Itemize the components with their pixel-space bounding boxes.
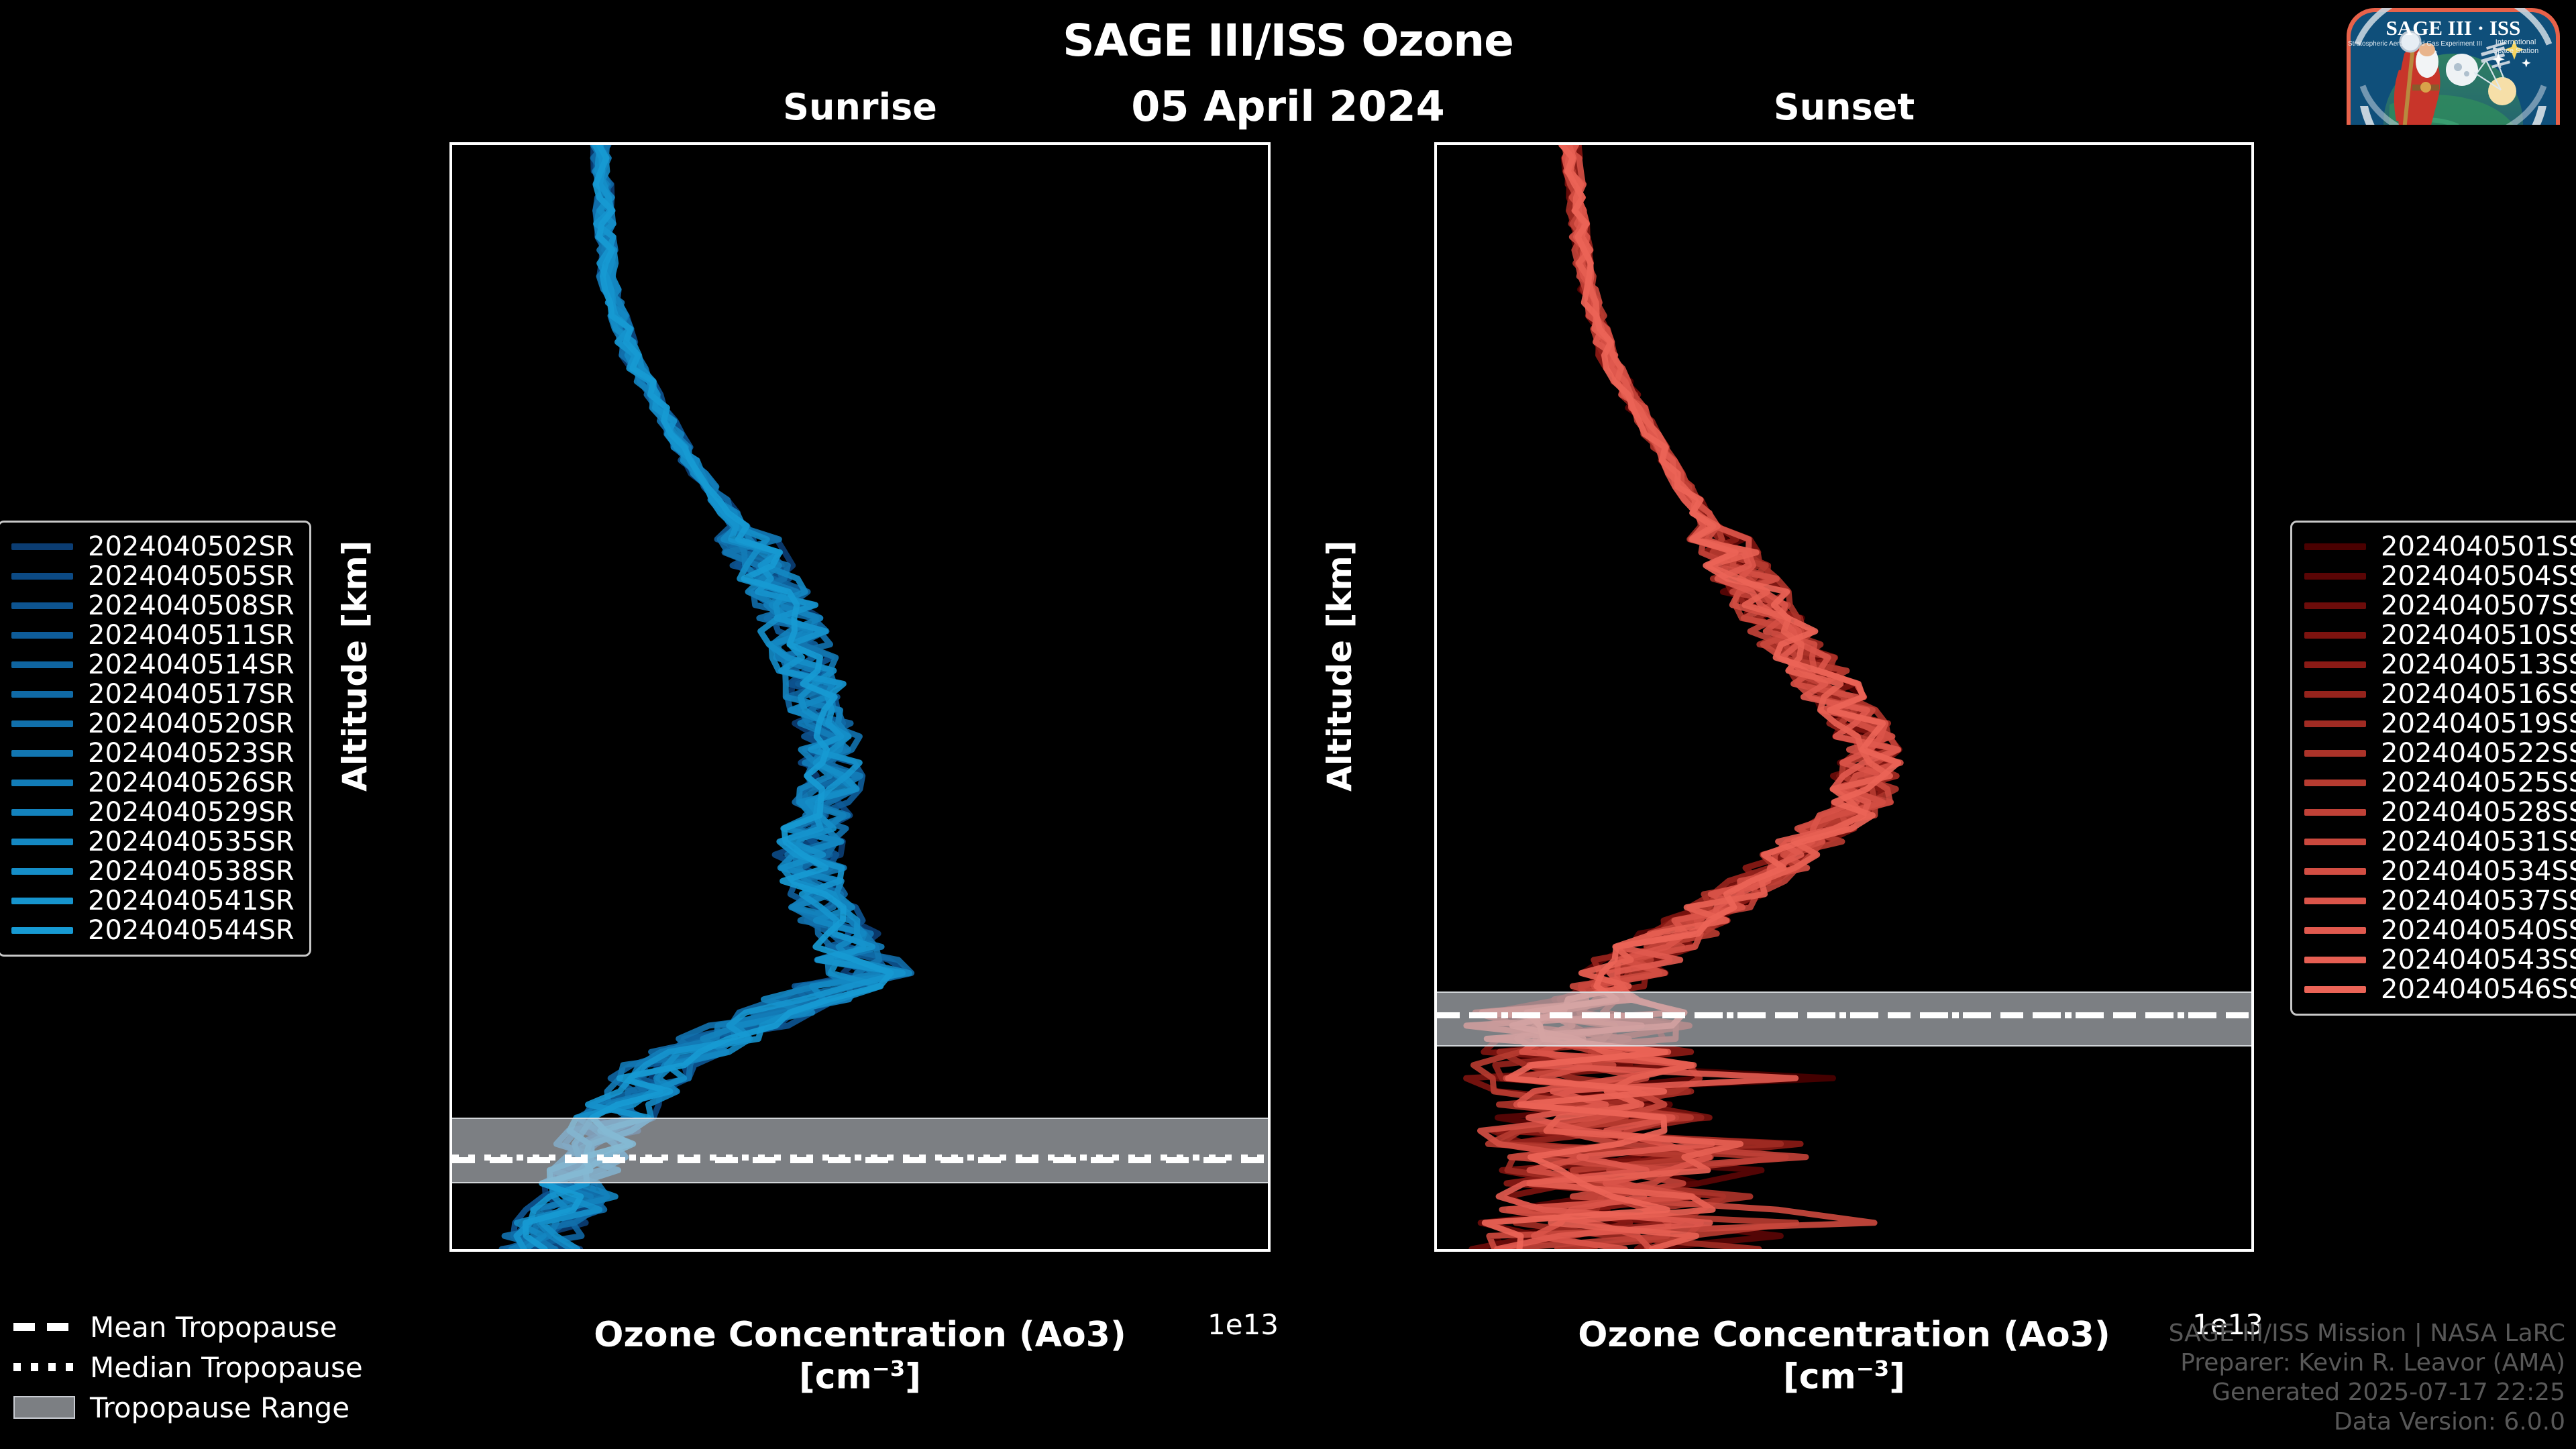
legend-label: 2024040522SS bbox=[2381, 738, 2576, 769]
profile-line bbox=[513, 145, 908, 1249]
legend-label: 2024040546SS bbox=[2381, 974, 2576, 1005]
y-axis-tick bbox=[1434, 801, 1437, 804]
legend-color-swatch-icon bbox=[2304, 839, 2366, 845]
legend-label: 2024040502SR bbox=[88, 531, 294, 562]
legend-color-swatch-icon bbox=[11, 927, 73, 934]
logo-title: SAGE III · ISS bbox=[2386, 16, 2521, 40]
legend-item[interactable]: 2024040531SS bbox=[2304, 827, 2576, 857]
legend-item[interactable]: 2024040513SS bbox=[2304, 650, 2576, 680]
x-axis-tick bbox=[970, 1249, 973, 1252]
y-axis-tick bbox=[449, 407, 452, 409]
legend-item[interactable]: 2024040546SS bbox=[2304, 975, 2576, 1004]
y-axis-tick bbox=[1434, 1195, 1437, 1198]
legend-color-swatch-icon bbox=[11, 543, 73, 550]
unit-suffix: ] bbox=[1889, 1357, 1905, 1397]
profile-line bbox=[517, 145, 903, 1249]
legend-color-swatch-icon bbox=[11, 898, 73, 904]
x-axis-tick bbox=[525, 1249, 528, 1252]
legend-color-swatch-icon bbox=[11, 691, 73, 698]
legend-color-swatch-icon bbox=[2304, 780, 2366, 786]
legend-color-swatch-icon bbox=[11, 868, 73, 875]
legend-label: 2024040505SR bbox=[88, 561, 294, 592]
legend-label: 2024040537SS bbox=[2381, 885, 2576, 916]
legend-label: 2024040528SS bbox=[2381, 797, 2576, 828]
y-axis-tick bbox=[1434, 932, 1437, 935]
credits-line-generated: Generated 2025-07-17 22:25 bbox=[2169, 1378, 2565, 1407]
x-axis-tick bbox=[1658, 1249, 1660, 1252]
legend-item[interactable]: 2024040505SR bbox=[11, 561, 294, 591]
y-axis-tick bbox=[449, 669, 452, 672]
legend-item[interactable]: 2024040520SR bbox=[11, 709, 294, 739]
legend-item[interactable]: 2024040534SS bbox=[2304, 857, 2576, 886]
legend-color-swatch-icon bbox=[2304, 661, 2366, 668]
sunrise-curves bbox=[452, 145, 1268, 1249]
y-axis-tick bbox=[449, 144, 452, 146]
credits-line-version: Data Version: 6.0.0 bbox=[2169, 1407, 2565, 1437]
y-axis-tick bbox=[449, 932, 452, 935]
sunset-legend[interactable]: 2024040501SS2024040504SS2024040507SS2024… bbox=[2290, 521, 2576, 1016]
unit-exponent: −3 bbox=[1856, 1356, 1889, 1381]
x-axis-tick bbox=[1267, 1249, 1269, 1252]
legend-item[interactable]: 2024040541SR bbox=[11, 886, 294, 916]
legend-item[interactable]: 2024040519SS bbox=[2304, 709, 2576, 739]
legend-color-swatch-icon bbox=[11, 602, 73, 609]
legend-color-swatch-icon bbox=[2304, 632, 2366, 639]
credits-block: SAGE III/ISS Mission | NASA LaRC Prepare… bbox=[2169, 1319, 2565, 1437]
legend-color-swatch-icon bbox=[2304, 573, 2366, 580]
legend-color-swatch-icon bbox=[2304, 927, 2366, 934]
legend-color-swatch-icon bbox=[2304, 543, 2366, 550]
credits-line-preparer: Preparer: Kevin R. Leavor (AMA) bbox=[2169, 1348, 2565, 1378]
legend-label: 2024040519SS bbox=[2381, 708, 2576, 739]
legend-item[interactable]: 2024040526SR bbox=[11, 768, 294, 798]
legend-item[interactable]: 2024040502SR bbox=[11, 532, 294, 561]
profile-line bbox=[525, 145, 891, 1249]
legend-label: 2024040508SR bbox=[88, 590, 294, 621]
legend-label: 2024040529SR bbox=[88, 797, 294, 828]
dotted-line-icon bbox=[13, 1363, 75, 1371]
y-axis-tick bbox=[449, 1195, 452, 1198]
profile-line bbox=[517, 145, 910, 1249]
legend-label: 2024040514SR bbox=[88, 649, 294, 680]
legend-item[interactable]: 2024040504SS bbox=[2304, 561, 2576, 591]
sage-iii-iss-mission-patch-logo: BALL · NASA LANGLEY RESEARCH CENTER · TA… bbox=[2343, 5, 2564, 125]
unit-prefix: [cm bbox=[1783, 1357, 1856, 1397]
legend-item-tropopause-range: Tropopause Range bbox=[13, 1387, 363, 1428]
profile-line bbox=[519, 145, 912, 1249]
band-swatch-icon bbox=[13, 1396, 75, 1419]
sunset-tropopause-range bbox=[1437, 991, 2251, 1046]
legend-item[interactable]: 2024040544SR bbox=[11, 916, 294, 945]
sunrise-plot-area: 1015202530354045500.00.20.40.60.81.0 bbox=[449, 142, 1271, 1252]
sunrise-y-axis-label: Altitude [km] bbox=[335, 540, 374, 792]
legend-label-median-tropopause: Median Tropopause bbox=[90, 1351, 363, 1384]
sunrise-x-offset-text: 1e13 bbox=[1207, 1308, 1279, 1341]
legend-label: 2024040544SR bbox=[88, 915, 294, 946]
legend-label: 2024040504SS bbox=[2381, 561, 2576, 592]
legend-label: 2024040513SS bbox=[2381, 649, 2576, 680]
legend-label: 2024040517SR bbox=[88, 679, 294, 710]
legend-item[interactable]: 2024040525SS bbox=[2304, 768, 2576, 798]
legend-label: 2024040507SS bbox=[2381, 590, 2576, 621]
profile-line bbox=[502, 145, 905, 1249]
legend-item[interactable]: 2024040501SS bbox=[2304, 532, 2576, 561]
legend-label-mean-tropopause: Mean Tropopause bbox=[90, 1311, 337, 1344]
legend-item-mean-tropopause: Mean Tropopause bbox=[13, 1307, 363, 1347]
logo-subtitle-right-2: Space Station bbox=[2493, 47, 2539, 55]
sunrise-x-axis-label: Ozone Concentration (Ao3) [cm−3] bbox=[449, 1315, 1271, 1398]
legend-label: 2024040534SS bbox=[2381, 856, 2576, 887]
legend-color-swatch-icon bbox=[2304, 602, 2366, 609]
legend-item[interactable]: 2024040517SR bbox=[11, 680, 294, 709]
legend-label-tropopause-range: Tropopause Range bbox=[90, 1391, 350, 1424]
sunset-y-axis-label: Altitude [km] bbox=[1320, 540, 1359, 792]
legend-label: 2024040540SS bbox=[2381, 915, 2576, 946]
legend-label: 2024040541SR bbox=[88, 885, 294, 916]
legend-item[interactable]: 2024040529SR bbox=[11, 798, 294, 827]
y-axis-tick bbox=[1434, 1064, 1437, 1067]
x-axis-tick bbox=[2102, 1249, 2104, 1252]
legend-color-swatch-icon bbox=[11, 780, 73, 786]
y-axis-tick bbox=[449, 538, 452, 541]
legend-color-swatch-icon bbox=[11, 839, 73, 845]
y-axis-tick bbox=[1434, 275, 1437, 278]
logo-subtitle-left: Stratospheric Aerosol and Gas Experiment… bbox=[2348, 40, 2482, 48]
sunrise-legend[interactable]: 2024040502SR2024040505SR2024040508SR2024… bbox=[0, 521, 311, 957]
sunset-x-axis-label: Ozone Concentration (Ao3) [cm−3] bbox=[1434, 1315, 2254, 1398]
sunset-x-axis-label-line1: Ozone Concentration (Ao3) bbox=[1434, 1315, 2254, 1356]
legend-label: 2024040543SS bbox=[2381, 945, 2576, 975]
credits-line-mission: SAGE III/ISS Mission | NASA LaRC bbox=[2169, 1319, 2565, 1348]
logo-subtitle-right-1: International bbox=[2495, 38, 2536, 46]
legend-item[interactable]: 2024040510SS bbox=[2304, 621, 2576, 650]
legend-color-swatch-icon bbox=[11, 661, 73, 668]
x-axis-tick bbox=[1954, 1249, 1957, 1252]
page-title: SAGE III/ISS Ozone bbox=[0, 15, 2576, 66]
legend-label: 2024040516SS bbox=[2381, 679, 2576, 710]
legend-color-swatch-icon bbox=[2304, 720, 2366, 727]
legend-label: 2024040520SR bbox=[88, 708, 294, 739]
sunrise-x-axis-label-line2: [cm−3] bbox=[449, 1356, 1271, 1398]
legend-item[interactable]: 2024040537SS bbox=[2304, 886, 2576, 916]
sunset-panel-title: Sunset bbox=[1434, 86, 2254, 128]
sunset-x-axis-label-line2: [cm−3] bbox=[1434, 1356, 2254, 1398]
legend-color-swatch-icon bbox=[11, 720, 73, 727]
x-axis-tick bbox=[2250, 1249, 2253, 1252]
y-axis-tick bbox=[449, 1064, 452, 1067]
legend-label: 2024040526SR bbox=[88, 767, 294, 798]
legend-label: 2024040523SR bbox=[88, 738, 294, 769]
tropopause-legend: Mean Tropopause Median Tropopause Tropop… bbox=[13, 1307, 363, 1428]
y-axis-tick bbox=[1434, 538, 1437, 541]
legend-item-median-tropopause: Median Tropopause bbox=[13, 1347, 363, 1387]
sunset-mean-tropopause-line bbox=[1437, 1012, 2251, 1018]
legend-item[interactable]: 2024040535SR bbox=[11, 827, 294, 857]
sunrise-x-axis-label-line1: Ozone Concentration (Ao3) bbox=[449, 1315, 1271, 1356]
y-axis-tick bbox=[449, 275, 452, 278]
unit-suffix: ] bbox=[905, 1357, 921, 1397]
legend-color-swatch-icon bbox=[2304, 986, 2366, 993]
x-axis-tick bbox=[1806, 1249, 1809, 1252]
legend-item[interactable]: 2024040508SR bbox=[11, 591, 294, 621]
unit-prefix: [cm bbox=[799, 1357, 872, 1397]
legend-item[interactable]: 2024040516SS bbox=[2304, 680, 2576, 709]
dashed-line-icon bbox=[13, 1323, 75, 1331]
sunrise-tropopause-range bbox=[452, 1118, 1268, 1183]
legend-label: 2024040501SS bbox=[2381, 531, 2576, 562]
legend-label: 2024040510SS bbox=[2381, 620, 2576, 651]
x-axis-tick bbox=[1509, 1249, 1512, 1252]
unit-exponent: −3 bbox=[872, 1356, 905, 1381]
y-axis-tick bbox=[1434, 669, 1437, 672]
x-axis-tick bbox=[1118, 1249, 1121, 1252]
sunrise-panel-title: Sunrise bbox=[449, 86, 1271, 128]
legend-item[interactable]: 2024040543SS bbox=[2304, 945, 2576, 975]
legend-color-swatch-icon bbox=[11, 750, 73, 757]
x-axis-tick bbox=[822, 1249, 824, 1252]
legend-label: 2024040531SS bbox=[2381, 826, 2576, 857]
sunset-plot-area: 1015202530354045500.00.20.40.60.81.0 bbox=[1434, 142, 2254, 1252]
legend-label: 2024040511SR bbox=[88, 620, 294, 651]
legend-color-swatch-icon bbox=[2304, 809, 2366, 816]
legend-item[interactable]: 2024040511SR bbox=[11, 621, 294, 650]
legend-label: 2024040538SR bbox=[88, 856, 294, 887]
legend-color-swatch-icon bbox=[11, 573, 73, 580]
legend-color-swatch-icon bbox=[2304, 691, 2366, 698]
legend-item[interactable]: 2024040523SR bbox=[11, 739, 294, 768]
y-axis-tick bbox=[1434, 144, 1437, 146]
legend-color-swatch-icon bbox=[2304, 868, 2366, 875]
legend-item[interactable]: 2024040540SS bbox=[2304, 916, 2576, 945]
legend-item[interactable]: 2024040514SR bbox=[11, 650, 294, 680]
sunset-curves bbox=[1437, 145, 2251, 1249]
legend-color-swatch-icon bbox=[11, 809, 73, 816]
legend-item[interactable]: 2024040538SR bbox=[11, 857, 294, 886]
legend-label: 2024040535SR bbox=[88, 826, 294, 857]
legend-color-swatch-icon bbox=[2304, 957, 2366, 963]
legend-item[interactable]: 2024040528SS bbox=[2304, 798, 2576, 827]
legend-item[interactable]: 2024040507SS bbox=[2304, 591, 2576, 621]
y-axis-tick bbox=[1434, 407, 1437, 409]
legend-color-swatch-icon bbox=[2304, 898, 2366, 904]
legend-color-swatch-icon bbox=[11, 632, 73, 639]
x-axis-tick bbox=[674, 1249, 676, 1252]
legend-label: 2024040525SS bbox=[2381, 767, 2576, 798]
y-axis-tick bbox=[449, 801, 452, 804]
sunrise-mean-tropopause-line bbox=[452, 1157, 1268, 1163]
legend-item[interactable]: 2024040522SS bbox=[2304, 739, 2576, 768]
legend-color-swatch-icon bbox=[2304, 750, 2366, 757]
